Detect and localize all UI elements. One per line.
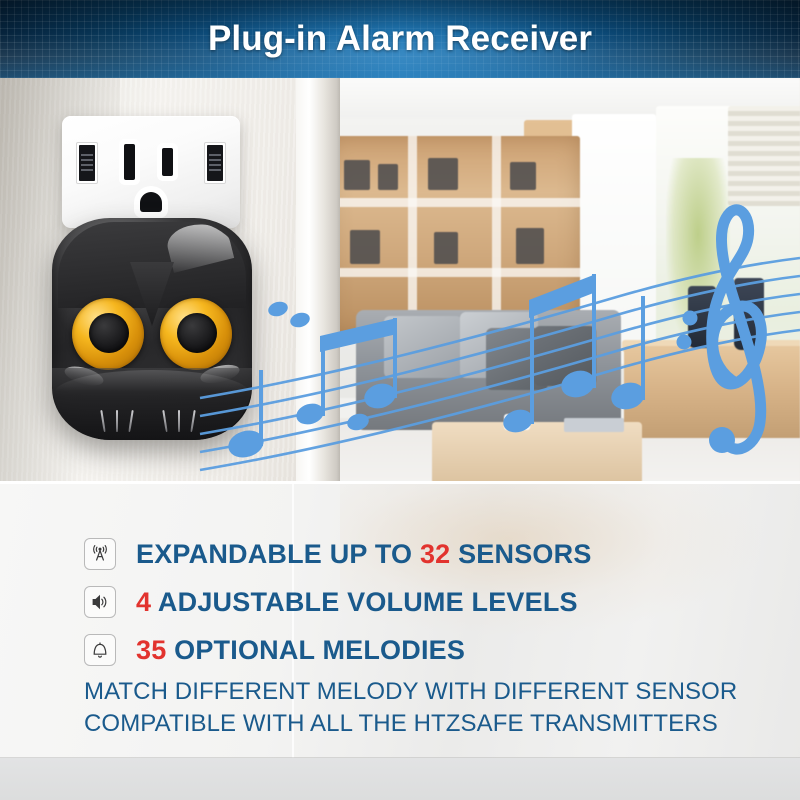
feature-post: ADJUSTABLE VOLUME LEVELS	[151, 587, 578, 617]
table-book	[564, 418, 624, 432]
room-cabinet	[624, 346, 800, 438]
feature-text-sensors: EXPANDABLE UP TO 32 SENSORS	[136, 539, 592, 570]
antenna-signal-icon	[84, 538, 116, 570]
sofa-cushion	[534, 326, 596, 386]
feature-text-melodies: 35 OPTIONAL MELODIES	[136, 635, 465, 666]
window-blinds	[728, 106, 800, 206]
feature-pre: EXPANDABLE UP TO	[136, 539, 420, 569]
description-line-1: MATCH DIFFERENT MELODY WITH DIFFERENT SE…	[84, 676, 800, 708]
outlet-slot-hot	[162, 148, 173, 176]
product-marketing-image: Plug-in Alarm Receiver	[0, 0, 800, 800]
outlet-ground-pin	[140, 192, 162, 212]
owl-claw-left	[98, 410, 140, 434]
page-title: Plug-in Alarm Receiver	[0, 0, 800, 78]
room-shelf-unit	[336, 136, 580, 336]
wall-outlet	[62, 116, 240, 228]
wall-corner-edge	[296, 78, 340, 483]
owl-eye-left	[72, 298, 144, 370]
header-banner: Plug-in Alarm Receiver	[0, 0, 800, 78]
feature-list: EXPANDABLE UP TO 32 SENSORS 4 ADJUSTABLE…	[84, 532, 784, 676]
feature-post: OPTIONAL MELODIES	[166, 635, 465, 665]
room-vase	[688, 286, 716, 348]
owl-claw-right	[160, 410, 202, 434]
description-line-2: COMPATIBLE WITH ALL THE HTZSAFE TRANSMIT…	[84, 708, 800, 740]
bell-icon	[84, 634, 116, 666]
sofa-cushion	[384, 316, 462, 378]
feature-text-volume: 4 ADJUSTABLE VOLUME LEVELS	[136, 587, 578, 618]
owl-eye-right	[160, 298, 232, 370]
table-cup	[504, 414, 530, 430]
product-photo-panel	[0, 78, 800, 483]
speaker-volume-icon	[84, 586, 116, 618]
feature-row-melodies: 35 OPTIONAL MELODIES	[84, 628, 784, 672]
room-vase	[734, 278, 764, 350]
feature-number: 4	[136, 587, 151, 617]
living-room-background	[336, 78, 800, 483]
usb-port-right	[204, 142, 226, 184]
feature-number: 35	[136, 635, 166, 665]
feature-number: 32	[420, 539, 450, 569]
outlet-slot-neutral	[124, 144, 135, 180]
description-block: MATCH DIFFERENT MELODY WITH DIFFERENT SE…	[84, 676, 800, 740]
owl-alarm-receiver	[52, 218, 252, 440]
usb-port-left	[76, 142, 98, 184]
feature-post: SENSORS	[450, 539, 591, 569]
feature-row-sensors: EXPANDABLE UP TO 32 SENSORS	[84, 532, 784, 576]
feature-row-volume: 4 ADJUSTABLE VOLUME LEVELS	[84, 580, 784, 624]
